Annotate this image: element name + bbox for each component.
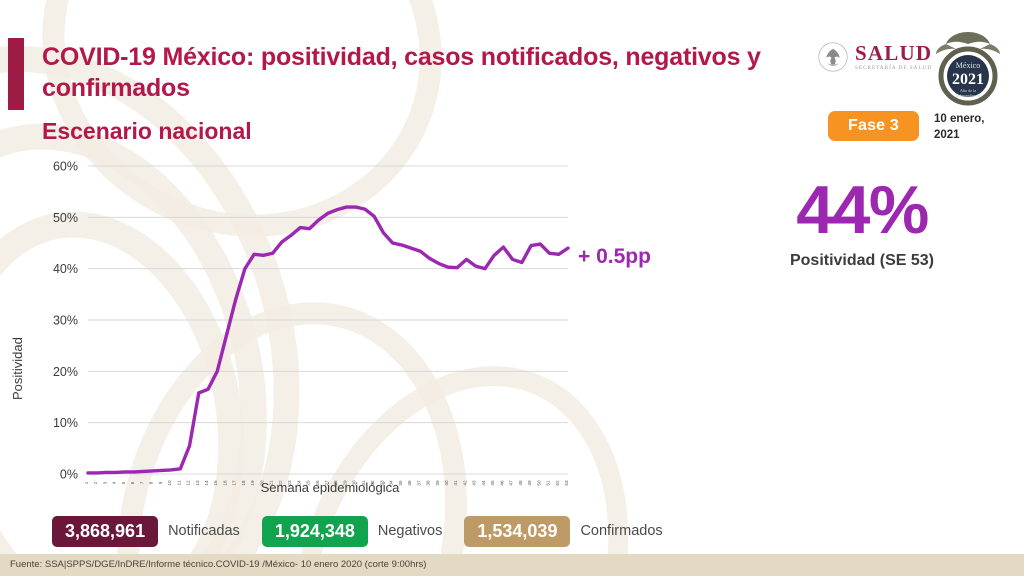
chart-x-tick: 15 <box>213 480 218 486</box>
footer-bar: Fuente: SSA|SPPS/DGE/InDRE/Informe técni… <box>0 554 1024 576</box>
chart-x-tick: 42 <box>462 480 467 486</box>
chart-x-tick: 36 <box>407 480 412 486</box>
chart-x-tick: 2 <box>93 481 98 484</box>
kpi-label: Positividad (SE 53) <box>700 252 1024 270</box>
chart-x-tick: 16 <box>222 480 227 486</box>
chart-x-tick: 39 <box>435 480 440 486</box>
summary-stat-1: 1,924,348Negativos <box>262 516 465 547</box>
chart-y-tick: 60% <box>53 160 78 174</box>
chart-x-tick: 3 <box>102 481 107 484</box>
chart-x-tick: 50 <box>536 480 541 486</box>
chart-x-tick: 38 <box>426 480 431 486</box>
chart-x-tick: 44 <box>481 480 486 486</box>
chart-x-axis-title: Semana epidemiológica <box>261 480 401 495</box>
salud-wordmark: SALUD <box>855 43 932 64</box>
chart-x-tick: 11 <box>176 480 181 485</box>
chart-y-tick: 0% <box>60 468 78 482</box>
chart-x-tick: 43 <box>472 480 477 486</box>
chart-x-tick: 46 <box>499 480 504 486</box>
chart-x-tick: 40 <box>444 480 449 486</box>
chart-y-tick: 10% <box>53 416 78 430</box>
chart-x-tick: 51 <box>546 480 551 486</box>
slide-canvas: COVID-19 México: positividad, casos noti… <box>0 0 1024 576</box>
svg-text:2021: 2021 <box>952 71 984 88</box>
stat-value-badge: 3,868,961 <box>52 516 158 547</box>
svg-text:México: México <box>956 61 980 70</box>
chart-x-tick: 14 <box>204 480 209 486</box>
chart-x-tick: 5 <box>121 481 126 484</box>
chart-y-axis-title: Positividad <box>10 337 25 400</box>
chart-x-tick: 19 <box>250 480 255 486</box>
chart-x-tick: 52 <box>555 480 560 486</box>
chart-x-tick: 47 <box>509 480 514 486</box>
summary-stat-0: 3,868,961Notificadas <box>52 516 262 547</box>
chart-x-tick: 41 <box>453 480 458 486</box>
summary-stats-row: 3,868,961Notificadas1,924,348Negativos1,… <box>52 516 685 547</box>
chart-x-tick: 37 <box>416 480 421 486</box>
stat-value-badge: 1,924,348 <box>262 516 368 547</box>
chart-x-tick: 6 <box>130 481 135 484</box>
delta-annotation: + 0.5pp <box>578 245 651 269</box>
chart-x-tick: 13 <box>195 480 200 486</box>
mexico-2021-seal-icon: México 2021 Año de la Independencia <box>930 28 1006 108</box>
chart-x-tick: 4 <box>112 481 117 484</box>
chart-x-tick: 18 <box>241 480 246 486</box>
chart-x-tick: 48 <box>518 480 523 486</box>
chart-x-tick: 45 <box>490 480 495 486</box>
chart-x-tick: 8 <box>149 481 154 484</box>
footer-source-text: Fuente: SSA|SPPS/DGE/InDRE/Informe técni… <box>10 559 426 570</box>
chart-x-tick: 1 <box>84 481 89 484</box>
chart-x-tick: 53 <box>564 480 569 486</box>
page-subtitle: Escenario nacional <box>42 118 252 145</box>
chart-x-tick: 9 <box>158 481 163 484</box>
chart-y-tick: 30% <box>53 314 78 328</box>
page-title: COVID-19 México: positividad, casos noti… <box>42 42 802 103</box>
date-label: 10 enero,2021 <box>934 112 985 143</box>
salud-logo: SALUD SECRETARÍA DE SALUD <box>818 42 932 72</box>
chart-y-tick-labels: 0%10%20%30%40%50%60% <box>53 160 78 482</box>
chart-x-tick: 17 <box>232 480 237 486</box>
salud-subtitle: SECRETARÍA DE SALUD <box>855 66 932 71</box>
positivity-chart: 0%10%20%30%40%50%60% 1234567891011121314… <box>0 150 600 500</box>
positivity-line-series <box>88 207 568 473</box>
stat-label: Notificadas <box>168 523 240 539</box>
chart-x-tick: 12 <box>186 480 191 486</box>
eagle-emblem-icon <box>818 42 848 72</box>
chart-y-tick: 20% <box>53 365 78 379</box>
chart-y-tick: 40% <box>53 262 78 276</box>
stat-label: Negativos <box>378 523 442 539</box>
phase-badge: Fase 3 <box>828 111 919 141</box>
chart-y-tick: 50% <box>53 211 78 225</box>
chart-x-tick: 10 <box>167 480 172 486</box>
title-accent-bar <box>8 38 24 110</box>
stat-label: Confirmados <box>580 523 662 539</box>
chart-x-tick: 49 <box>527 480 532 486</box>
summary-stat-2: 1,534,039Confirmados <box>464 516 684 547</box>
stat-value-badge: 1,534,039 <box>464 516 570 547</box>
chart-x-tick: 7 <box>139 481 144 484</box>
svg-text:Independencia: Independencia <box>956 93 981 98</box>
kpi-value: 44% <box>700 176 1024 244</box>
